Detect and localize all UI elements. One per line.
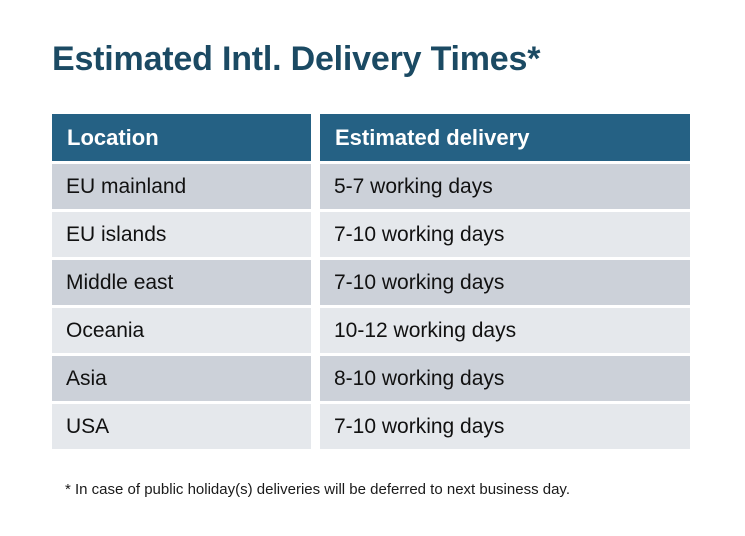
cell-estimated-delivery: 5-7 working days	[320, 164, 690, 209]
table-row: USA 7-10 working days	[52, 404, 690, 449]
footnote-text: * In case of public holiday(s) deliverie…	[65, 480, 570, 500]
page-title: Estimated Intl. Delivery Times*	[52, 38, 540, 80]
cell-estimated-delivery: 7-10 working days	[320, 260, 690, 305]
cell-location: Oceania	[52, 308, 311, 353]
cell-location: Asia	[52, 356, 311, 401]
delivery-times-page: Estimated Intl. Delivery Times* Location…	[0, 0, 745, 536]
delivery-times-table: Location Estimated delivery EU mainland …	[52, 114, 690, 449]
cell-estimated-delivery: 7-10 working days	[320, 212, 690, 257]
column-header-estimated-delivery: Estimated delivery	[320, 114, 690, 161]
table-row: Oceania 10-12 working days	[52, 308, 690, 353]
column-header-location: Location	[52, 114, 311, 161]
cell-estimated-delivery: 10-12 working days	[320, 308, 690, 353]
table-row: Asia 8-10 working days	[52, 356, 690, 401]
cell-location: EU mainland	[52, 164, 311, 209]
table-row: EU mainland 5-7 working days	[52, 164, 690, 209]
cell-location: Middle east	[52, 260, 311, 305]
cell-estimated-delivery: 7-10 working days	[320, 404, 690, 449]
cell-location: EU islands	[52, 212, 311, 257]
cell-location: USA	[52, 404, 311, 449]
table-header-row: Location Estimated delivery	[52, 114, 690, 161]
cell-estimated-delivery: 8-10 working days	[320, 356, 690, 401]
table-row: EU islands 7-10 working days	[52, 212, 690, 257]
table-row: Middle east 7-10 working days	[52, 260, 690, 305]
